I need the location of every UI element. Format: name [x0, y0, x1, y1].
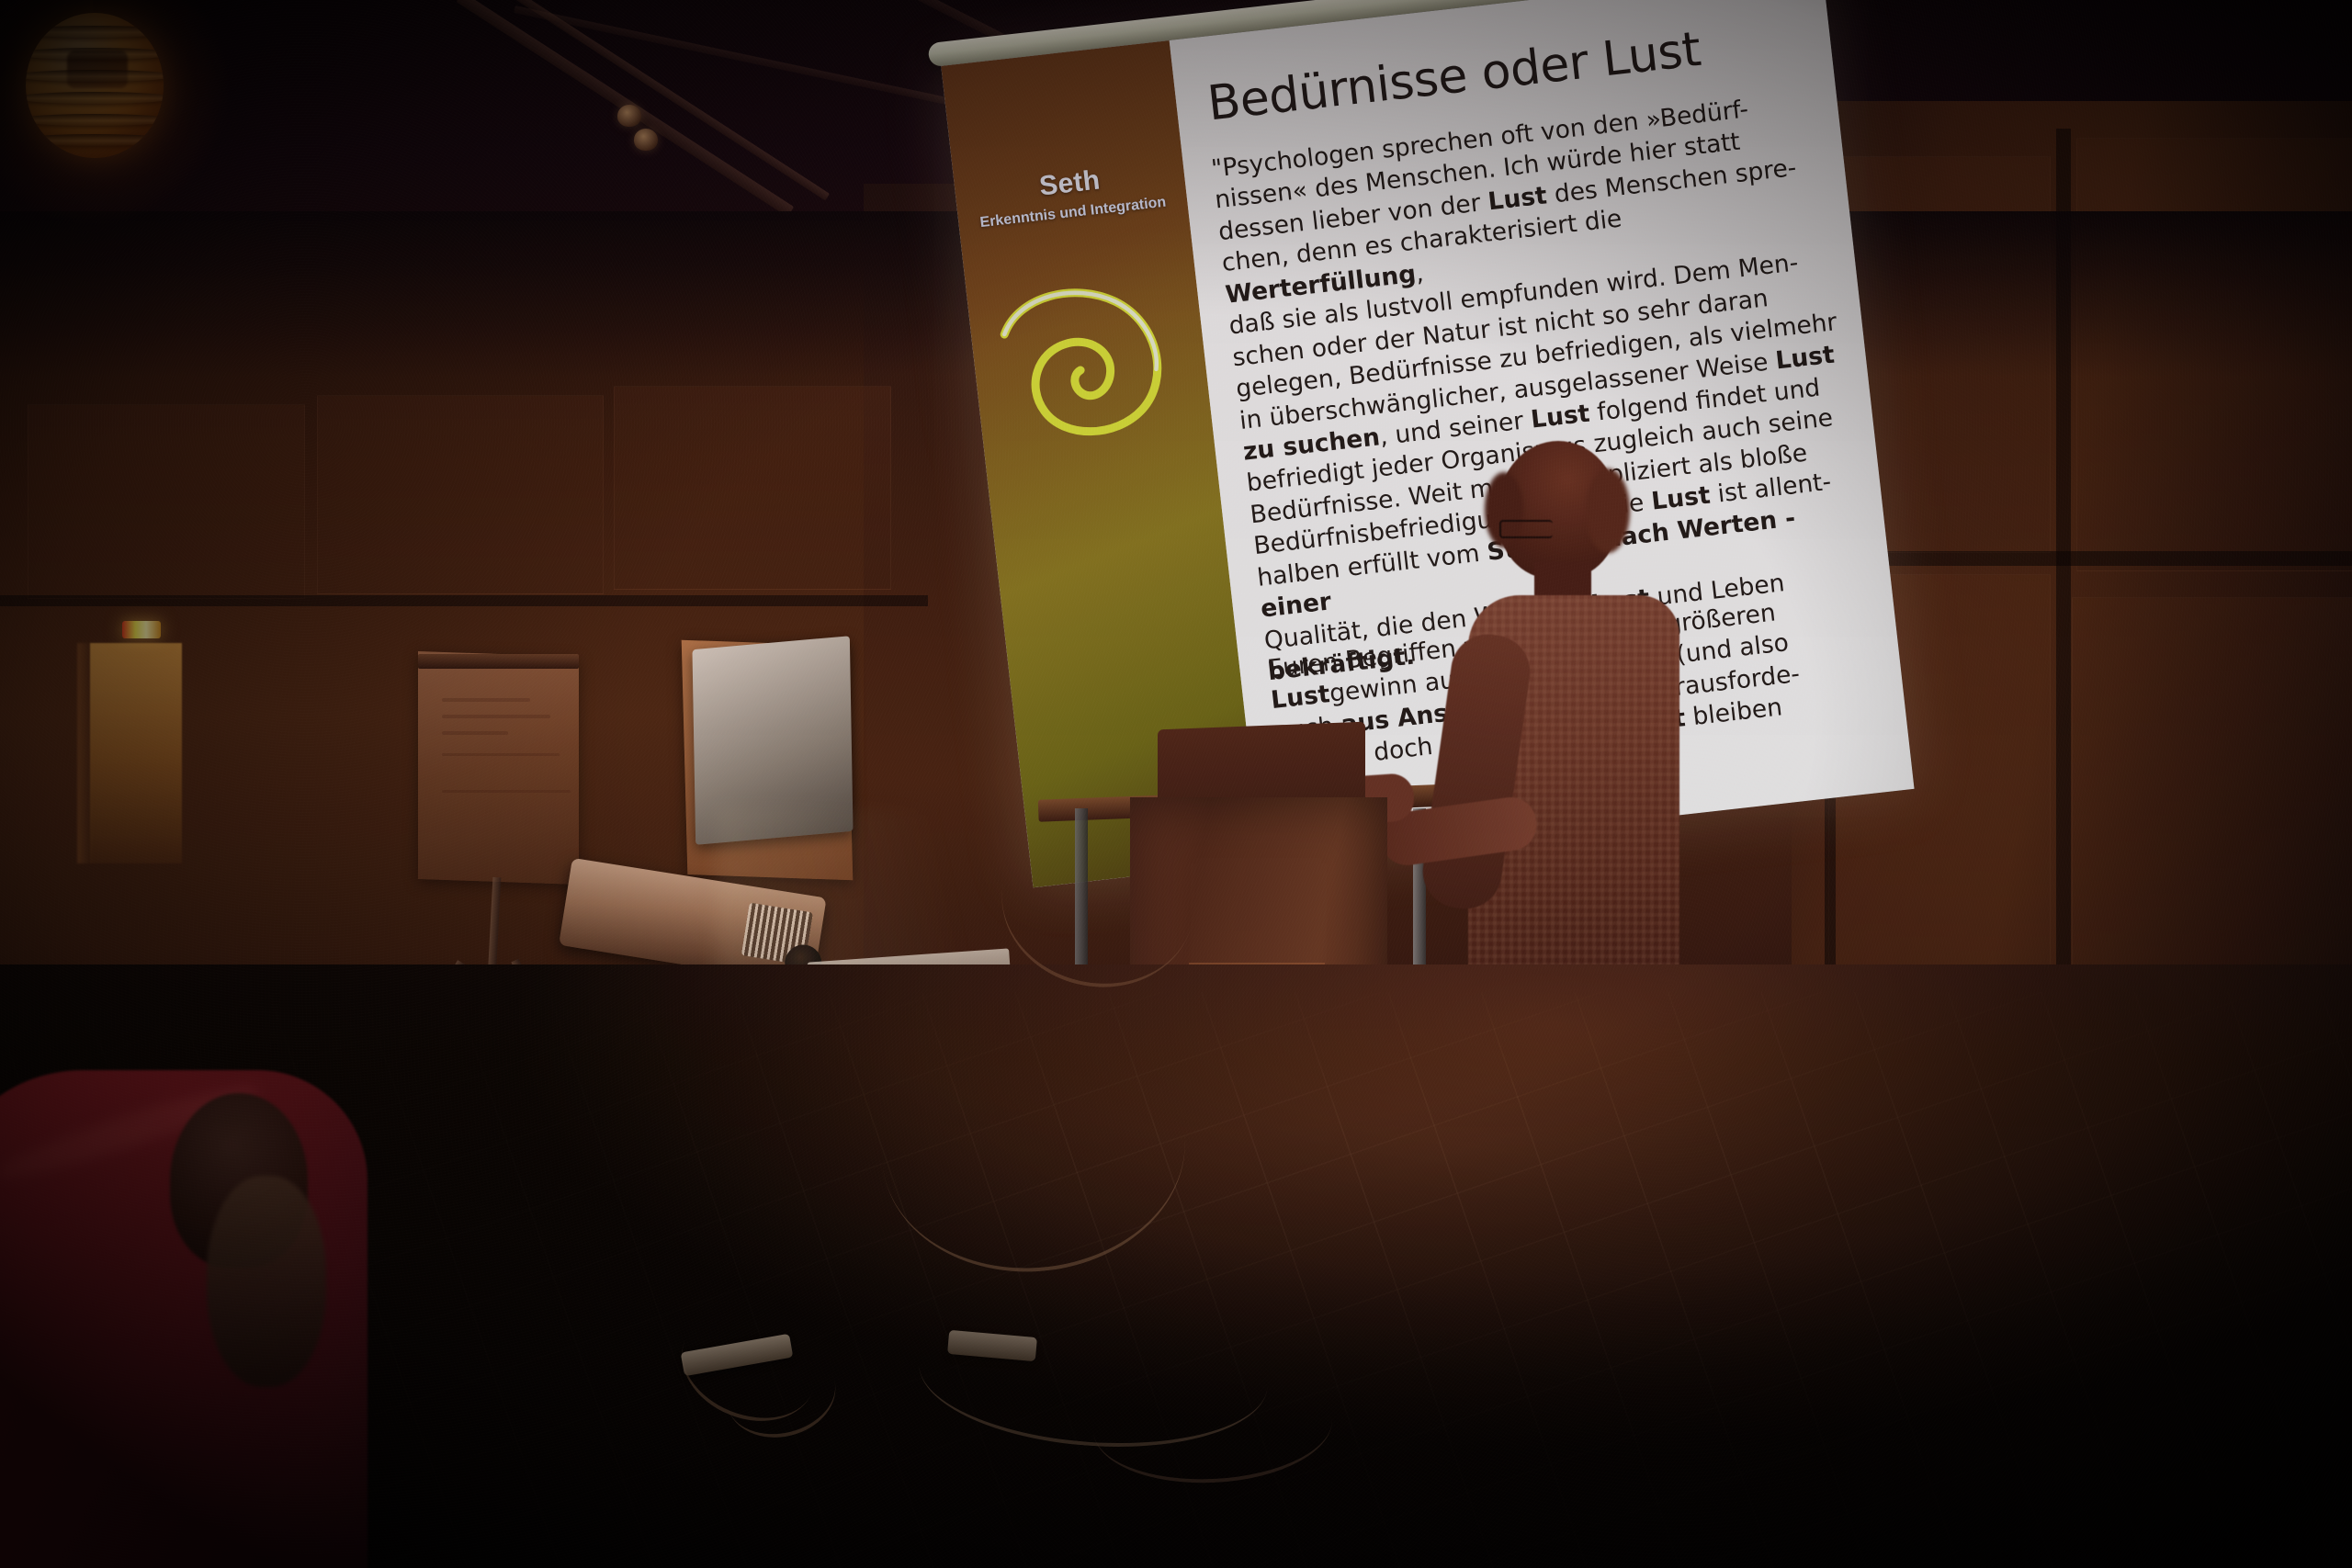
lamp-globe-icon: [26, 13, 164, 158]
wall-panel: [317, 395, 604, 594]
wall-panel: [28, 404, 305, 599]
glasses-icon: [1499, 520, 1553, 538]
lamp-louvre: [26, 48, 164, 60]
flipchart-scribble: [442, 790, 571, 793]
lamp-louvre: [26, 114, 164, 126]
lamp-louvre: [26, 70, 164, 82]
flipchart-left: [418, 654, 579, 882]
wall-seam: [0, 595, 928, 606]
track-light-icon: [634, 129, 658, 151]
lamp-louvre: [26, 134, 164, 146]
presenter-hair: [1586, 468, 1630, 553]
flipchart-paper: [418, 651, 579, 885]
lamp-louvre: [26, 92, 164, 104]
exit-sign-icon: [122, 621, 161, 638]
lit-doorway: [90, 643, 182, 863]
laptop-screen: [692, 636, 853, 844]
wall-panel: [2072, 597, 2352, 994]
track-light-icon: [617, 105, 641, 127]
pendant-lamp: [6, 2, 180, 172]
wall-seam: [1828, 551, 2352, 566]
flipchart-scribble: [442, 753, 560, 756]
audience-member-hair: [207, 1176, 326, 1387]
spiral-logo: [989, 258, 1192, 461]
wall-panel: [614, 386, 891, 590]
flipchart-scribble: [442, 715, 550, 718]
flipchart-scribble: [442, 731, 508, 735]
seminar-room-photo: Seth Erkenntnis und Integration Bedürnis…: [0, 0, 2352, 1568]
lamp-louvre: [26, 26, 164, 38]
flipchart-scribble: [442, 698, 530, 702]
flipchart-clamp: [418, 654, 579, 669]
